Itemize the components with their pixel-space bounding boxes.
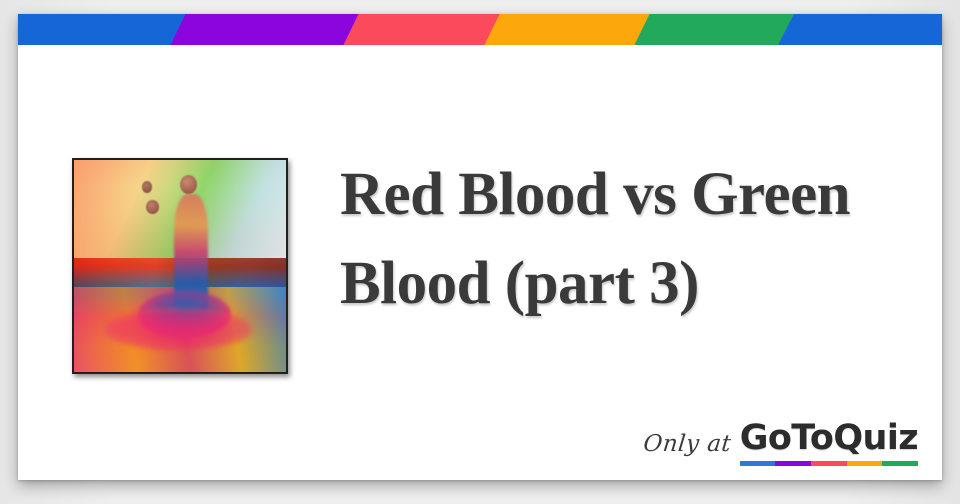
- banner-stripe-red: [343, 14, 501, 45]
- footer-branding: Only at GoToQuiz: [643, 421, 918, 466]
- page-title-line-2: Blood (part 3): [340, 239, 940, 328]
- logo-bar-segment-green: [882, 461, 918, 466]
- page-title-line-1: Red Blood vs Green: [340, 150, 940, 239]
- banner-stripe-blue-right: [778, 14, 942, 45]
- logo-bar-segment-red: [811, 461, 847, 466]
- rainbow-chevron-banner: [18, 14, 942, 45]
- logo-bar-segment-blue: [740, 461, 776, 466]
- page-root: Red Blood vs Green Blood (part 3) Only a…: [0, 0, 960, 504]
- quiz-card: Red Blood vs Green Blood (part 3) Only a…: [18, 14, 942, 480]
- banner-stripe-purple: [170, 14, 360, 45]
- logo-bar-segment-orange: [847, 461, 883, 466]
- thumbnail-droplet-3: [146, 200, 159, 214]
- page-title: Red Blood vs Green Blood (part 3): [340, 150, 940, 328]
- thumbnail-image: [74, 160, 286, 372]
- thumbnail-droplet-1: [180, 175, 197, 194]
- logo-bar-segment-purple: [775, 461, 811, 466]
- banner-stripe-blue-left: [18, 14, 188, 45]
- gotoquiz-logo[interactable]: GoToQuiz: [740, 421, 918, 466]
- only-at-label: Only at: [641, 431, 732, 466]
- gotoquiz-wordmark: GoToQuiz: [740, 421, 918, 456]
- quiz-thumbnail[interactable]: [72, 158, 288, 374]
- thumbnail-splash-ring: [104, 308, 252, 350]
- banner-stripe-green: [634, 14, 801, 45]
- gotoquiz-color-bar: [740, 461, 918, 466]
- banner-stripe-orange: [484, 14, 651, 45]
